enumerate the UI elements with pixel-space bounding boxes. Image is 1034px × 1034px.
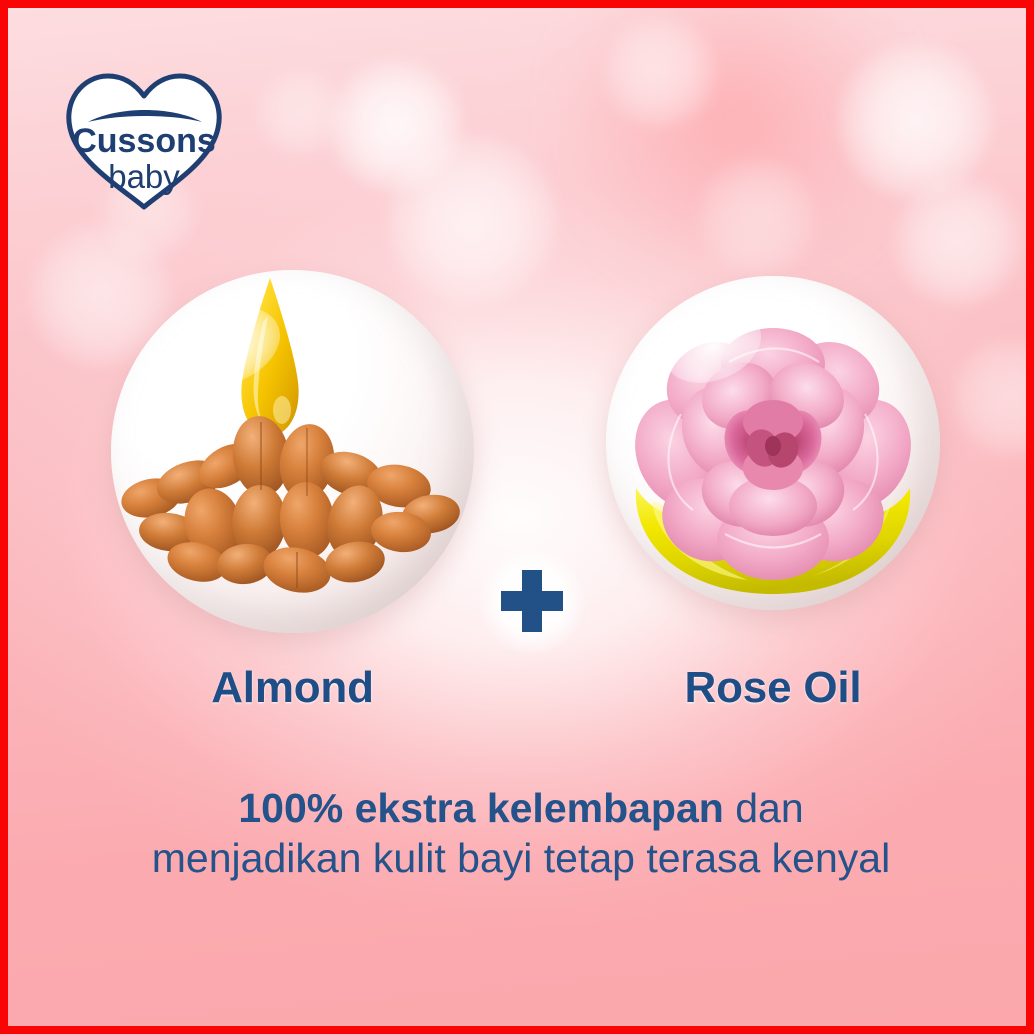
ingredient-label-almond: Almond [111, 663, 474, 713]
logo-wordmark-cussons: Cussons [72, 122, 216, 160]
product-poster: Cussons baby [0, 0, 1034, 1034]
tagline-regular-suffix: dan [724, 785, 804, 831]
tagline: 100% ekstra kelembapan dan menjadikan ku… [48, 786, 994, 882]
logo-wordmark-baby: baby [108, 158, 180, 195]
almond-nuts [118, 413, 463, 598]
oil-drop-icon [241, 278, 298, 436]
ingredient-label-rose-oil: Rose Oil [606, 663, 940, 713]
cussons-baby-logo: Cussons baby [60, 66, 228, 214]
tagline-line-1: 100% ekstra kelembapan dan [48, 786, 994, 832]
tagline-bold-claim: 100% ekstra kelembapan [238, 785, 723, 831]
rose-oil-illustration [606, 276, 940, 610]
tagline-line-2: menjadikan kulit bayi tetap terasa kenya… [48, 836, 994, 882]
ingredient-sphere-rose-oil [606, 276, 940, 610]
almond-illustration [111, 270, 474, 633]
plus-separator [495, 564, 569, 638]
ingredient-sphere-almond [111, 270, 474, 633]
plus-icon [501, 570, 563, 632]
